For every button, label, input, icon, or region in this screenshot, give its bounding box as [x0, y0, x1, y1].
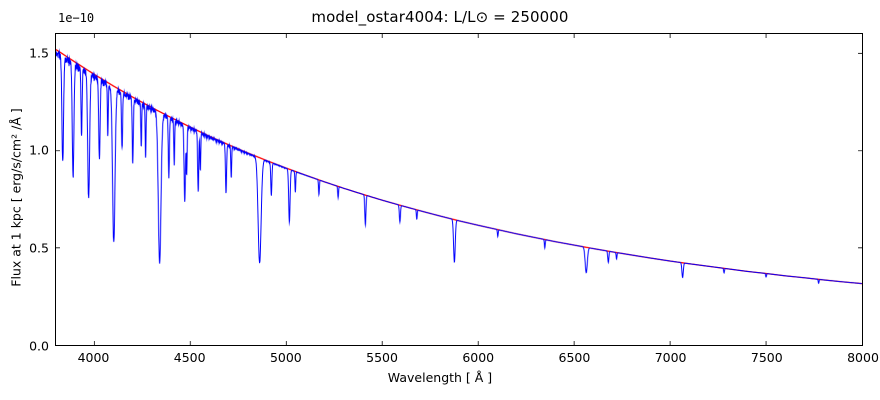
- y-axis-label: Flux at 1 kpc [ erg/s/cm² /Å ]: [9, 48, 24, 348]
- plot-axes: [55, 33, 863, 346]
- figure: model_ostar4004: L/L⊙ = 250000 1e−10 0.0…: [0, 0, 880, 400]
- x-tick-label: 7000: [655, 350, 687, 365]
- x-tick-label: 7500: [751, 350, 783, 365]
- x-tick-label: 8000: [847, 350, 879, 365]
- x-tick-label: 5000: [270, 350, 302, 365]
- y-axis-exponent-label: 1e−10: [58, 11, 94, 25]
- x-tick-label: 6500: [559, 350, 591, 365]
- x-tick-label: 5500: [366, 350, 398, 365]
- x-tick-label: 6000: [462, 350, 494, 365]
- x-axis-label: Wavelength [ Å ]: [0, 370, 880, 385]
- x-tick-label: 4500: [174, 350, 206, 365]
- spectrum-plot-canvas: [56, 34, 862, 345]
- plot-title: model_ostar4004: L/L⊙ = 250000: [0, 8, 880, 26]
- x-tick-label: 4000: [78, 350, 110, 365]
